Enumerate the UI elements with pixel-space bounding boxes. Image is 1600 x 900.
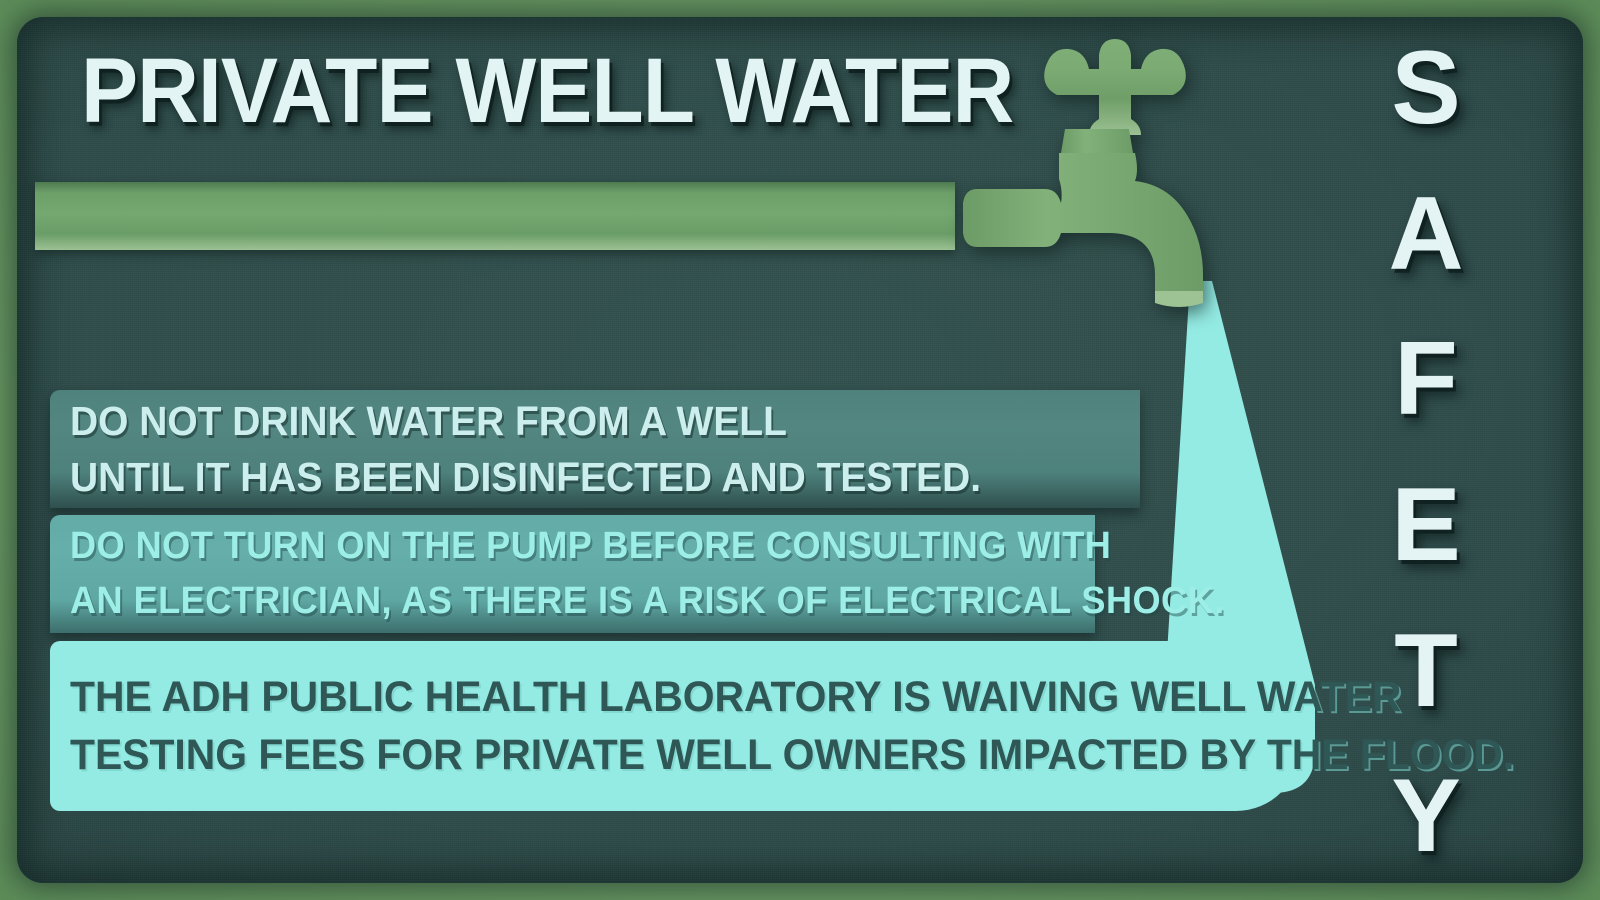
advisory-band-1: DO NOT DRINK WATER FROM A WELL UNTIL IT …: [50, 390, 1140, 508]
band-2-line-2: AN ELECTRICIAN, AS THERE IS A RISK OF EL…: [70, 574, 1044, 629]
band-3-line-1: THE ADH PUBLIC HEALTH LABORATORY IS WAIV…: [70, 668, 1239, 726]
safety-letter-s: S: [1391, 41, 1460, 137]
advisory-band-2: DO NOT TURN ON THE PUMP BEFORE CONSULTIN…: [50, 515, 1095, 633]
poster-canvas: PRIVATE WELL WATER: [0, 0, 1600, 900]
green-accent-bar: [35, 182, 955, 250]
safety-letter-a: A: [1388, 187, 1463, 283]
advisory-band-3: THE ADH PUBLIC HEALTH LABORATORY IS WAIV…: [50, 641, 1300, 811]
safety-letter-f: F: [1394, 332, 1458, 428]
safety-letter-e: E: [1391, 478, 1460, 574]
page-title: PRIVATE WELL WATER: [81, 39, 1013, 144]
band-1-line-1: DO NOT DRINK WATER FROM A WELL: [70, 393, 1087, 449]
band-3-line-2: TESTING FEES FOR PRIVATE WELL OWNERS IMP…: [70, 726, 1239, 784]
band-2-line-1: DO NOT TURN ON THE PUMP BEFORE CONSULTIN…: [70, 519, 1044, 574]
poster-panel: PRIVATE WELL WATER: [17, 17, 1583, 883]
safety-letter-y: Y: [1391, 769, 1460, 865]
safety-letter-t: T: [1394, 624, 1458, 720]
band-1-line-2: UNTIL IT HAS BEEN DISINFECTED AND TESTED…: [70, 449, 1087, 505]
vertical-safety-word: S A F E T Y: [1341, 41, 1511, 865]
